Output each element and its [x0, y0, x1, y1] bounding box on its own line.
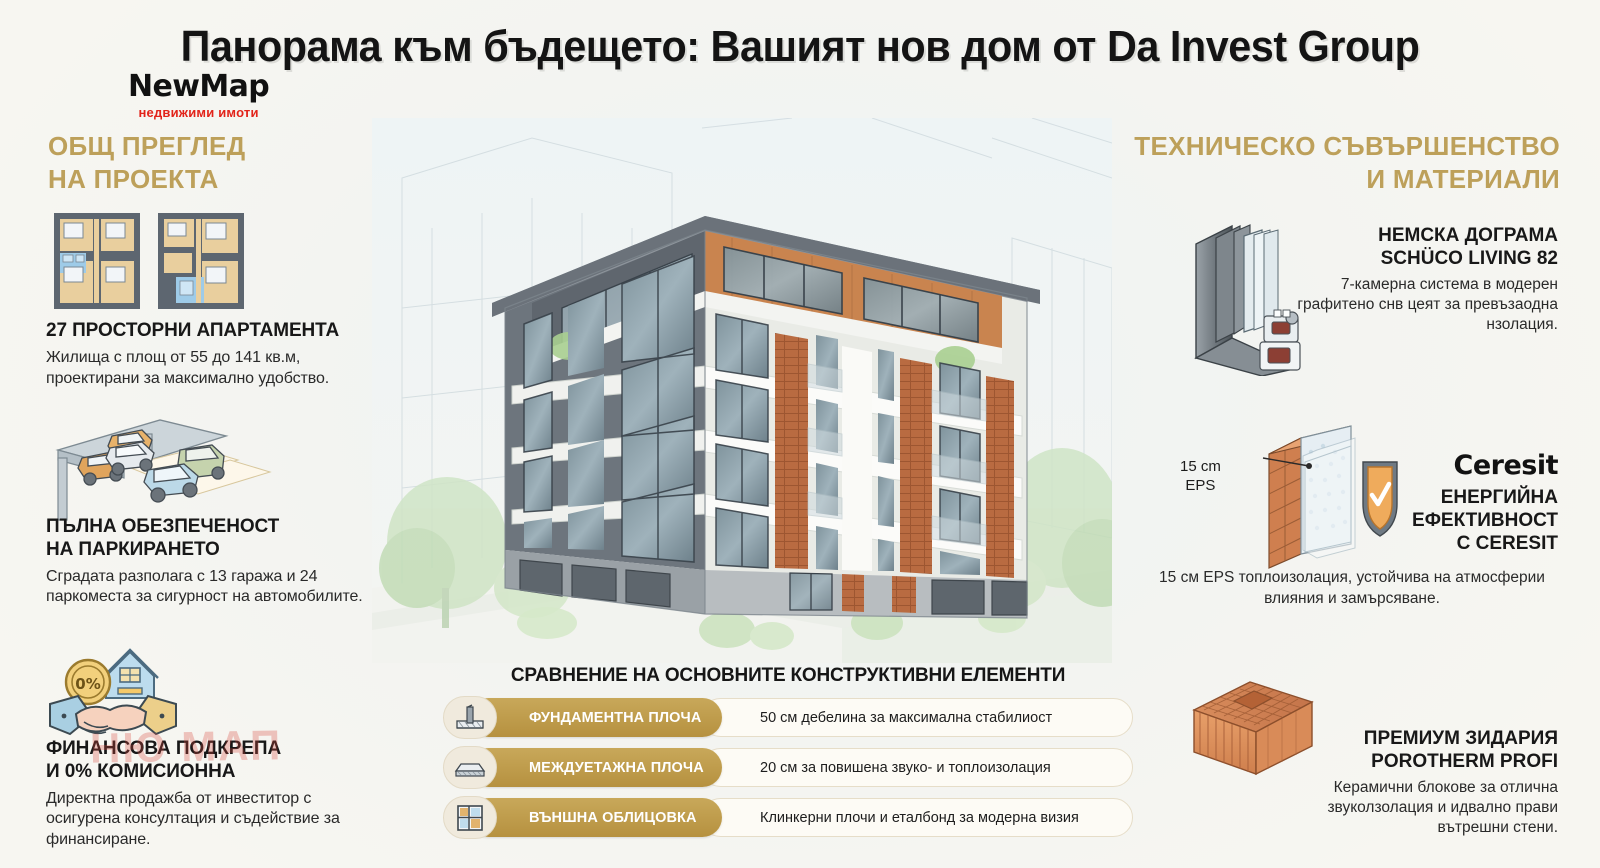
feature-apartments-title: 27 ПРОСТОРНИ АПАРТАМЕНТА — [46, 320, 386, 343]
eps-thickness-callout: 15 cm EPS — [1180, 458, 1221, 496]
comparison-row-cladding: Клинкерни плочи и еталбонд за модерна ви… — [443, 796, 1133, 839]
floor-plans-icon — [50, 205, 250, 322]
feature-finance-title-line1: ФИНАНСОВА ПОДКРЕПА — [46, 738, 386, 761]
comparison-label-cladding: ВЪНШНА ОБЛИЦОВКА — [469, 798, 722, 837]
feature-apartments-body: Жилища с площ от 55 до 141 кв.м, проекти… — [46, 348, 386, 390]
newmap-logo: NewMap недвижими имоти — [128, 72, 269, 120]
feature-parking-body: Сградата разполага с 13 гаража и 24 парк… — [46, 567, 386, 609]
feature-windows-title-line2: SCHÜCO LIVING 82 — [1288, 248, 1558, 271]
feature-insulation-title-line1: ЕНЕРГИЙНА — [1308, 487, 1558, 510]
feature-apartments: 27 ПРОСТОРНИ АПАРТАМЕНТА Жилища с площ о… — [46, 320, 386, 389]
feature-insulation-body: 15 см EPS топлоизолация, устойчива на ат… — [1142, 568, 1562, 610]
comparison-row-floor-slab: 20 см за повишена звуко- и топлоизолация… — [443, 746, 1133, 789]
left-heading-line1: ОБЩ ПРЕГЛЕД — [48, 130, 246, 163]
right-heading-line1: ТЕХНИЧЕСКО СЪВЪРШЕНСТВО — [1134, 130, 1560, 163]
infographic-page: Панорама към бъдещето: Вашият нов дом от… — [0, 0, 1600, 868]
eps-callout-line1: 15 cm — [1180, 458, 1221, 477]
handshake-zero-percent-icon: 0% — [48, 638, 178, 753]
floor-slab-icon — [443, 746, 497, 789]
svg-text:0%: 0% — [75, 675, 100, 693]
feature-masonry: ПРЕМИУМ ЗИДАРИЯ POROTHERM PROFI Керамичн… — [1268, 728, 1558, 838]
eps-callout-line2: EPS — [1180, 477, 1221, 496]
feature-insulation-title-line2: ЕФЕКТИВНОСТ — [1308, 510, 1558, 533]
comparison-label-floor-slab: МЕЖДУЕТАЖНА ПЛОЧА — [469, 748, 722, 787]
logo-tagline: недвижими имоти — [128, 105, 269, 120]
feature-masonry-title-line1: ПРЕМИУМ ЗИДАРИЯ — [1268, 728, 1558, 751]
facade-cladding-icon — [443, 796, 497, 839]
comparison-value-foundation: 50 см дебелина за максимална стабилиост — [701, 698, 1133, 737]
feature-insulation: Ceresit ЕНЕРГИЙНА ЕФЕКТИВНОСТ С CERESIT — [1308, 450, 1558, 555]
page-title: Панорама към бъдещето: Вашият нов дом от… — [48, 22, 1552, 72]
comparison-value-cladding: Клинкерни плочи и еталбонд за модерна ви… — [701, 798, 1133, 837]
comparison-row-foundation: 50 см дебелина за максимална стабилиост … — [443, 696, 1133, 739]
feature-masonry-body: Керамични блокове за отлична звуколзолац… — [1268, 778, 1558, 838]
foundation-slab-icon — [443, 696, 497, 739]
feature-parking-title-line2: НА ПАРКИРАНЕТО — [46, 539, 386, 562]
left-heading-line2: НА ПРОЕКТА — [48, 163, 246, 196]
right-heading-line2: И МАТЕРИАЛИ — [1134, 163, 1560, 196]
feature-finance-body: Директна продажба от инвеститор с осигур… — [46, 789, 386, 851]
feature-finance: ФИНАНСОВА ПОДКРЕПА И 0% КОМИСИОННА Дирек… — [46, 738, 386, 851]
logo-wordmark: NewMap — [128, 72, 269, 102]
feature-windows-body: 7-камерна система в модерен графитено сн… — [1288, 275, 1558, 335]
comparison-title: СРАВНЕНИЕ НА ОСНОВНИТЕ КОНСТРУКТИВНИ ЕЛЕ… — [443, 665, 1133, 687]
comparison-label-foundation: ФУНДАМЕНТНА ПЛОЧА — [469, 698, 722, 737]
feature-windows: НЕМСКА ДОГРАМА SCHÜCO LIVING 82 7-камерн… — [1288, 225, 1558, 335]
building-illustration — [372, 118, 1112, 663]
feature-windows-title-line1: НЕМСКА ДОГРАМА — [1288, 225, 1558, 248]
feature-masonry-title-line2: POROTHERM PROFI — [1268, 751, 1558, 774]
feature-parking: ПЪЛНА ОБЕЗПЕЧЕНОСТ НА ПАРКИРАНЕТО Сграда… — [46, 516, 386, 608]
ceresit-logo: Ceresit — [1308, 450, 1558, 481]
feature-finance-title-line2: И 0% КОМИСИОННА — [46, 761, 386, 784]
comparison-value-floor-slab: 20 см за повишена звуко- и топлоизолация — [701, 748, 1133, 787]
comparison-panel: СРАВНЕНИЕ НА ОСНОВНИТЕ КОНСТРУКТИВНИ ЕЛЕ… — [443, 665, 1133, 846]
right-column-heading: ТЕХНИЧЕСКО СЪВЪРШЕНСТВО И МАТЕРИАЛИ — [1134, 130, 1560, 197]
feature-insulation-title-line3: С CERESIT — [1308, 533, 1558, 556]
left-column-heading: ОБЩ ПРЕГЛЕД НА ПРОЕКТА — [48, 130, 246, 197]
feature-parking-title-line1: ПЪЛНА ОБЕЗПЕЧЕНОСТ — [46, 516, 386, 539]
